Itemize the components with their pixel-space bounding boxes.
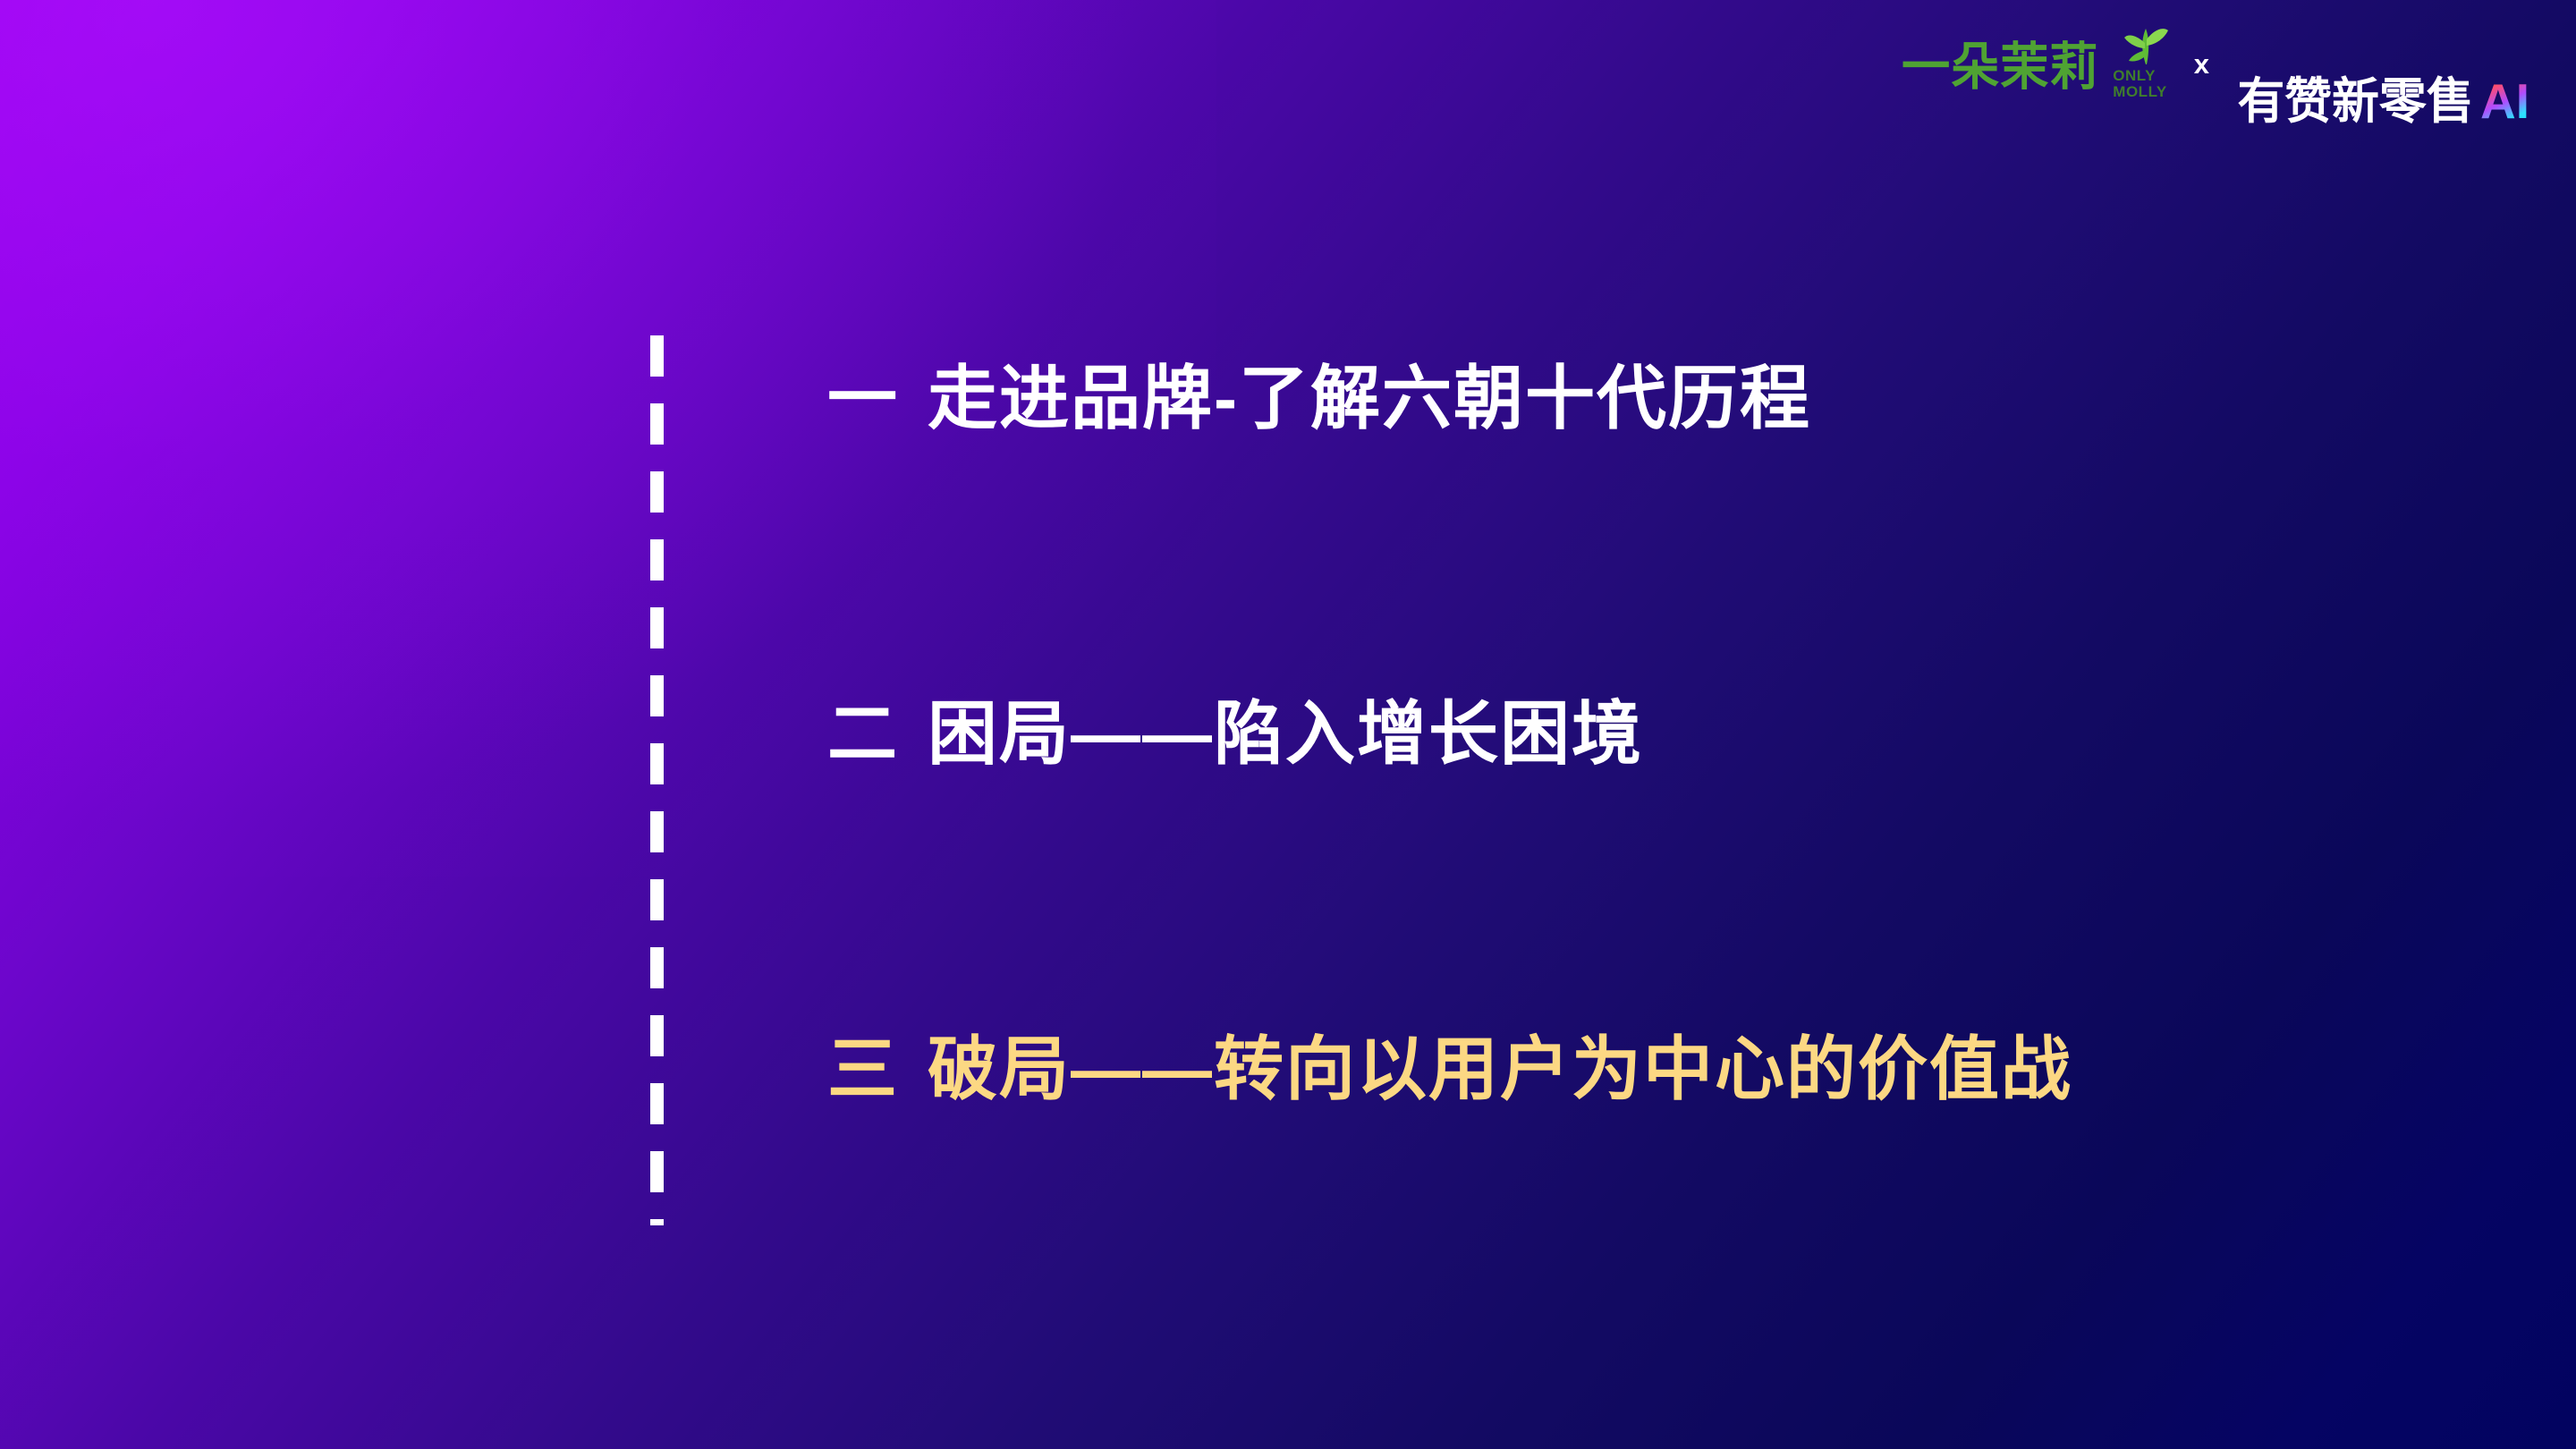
agenda-list: 一走进品牌-了解六朝十代历程 二困局——陷入增长困境 三破局——转向以用户为中心… xyxy=(827,360,2491,1108)
agenda-item-2-text: 二困局——陷入增长困境 xyxy=(827,695,1643,773)
agenda-item-1-title: 走进品牌-了解六朝十代历程 xyxy=(928,359,1811,437)
brand-logo-only-molly-en: ONLY MOLLY xyxy=(2113,68,2166,107)
agenda-item-2[interactable]: 二困局——陷入增长困境 xyxy=(827,695,2491,1030)
brand-logo-youzan-ai: AI xyxy=(2480,77,2529,126)
agenda-divider-dashed-line xyxy=(650,335,664,1225)
brand-logo-en-line1: ONLY xyxy=(2113,68,2166,84)
brand-separator-x: x xyxy=(2194,50,2209,78)
brand-logo-en-line2: MOLLY xyxy=(2113,84,2166,100)
agenda-item-1-text: 一走进品牌-了解六朝十代历程 xyxy=(827,360,1811,437)
brand-bar: 一朵茉莉 ONLY MOLLY x 有赞新零售 AI xyxy=(1902,21,2529,107)
brand-logo-only-molly: 一朵茉莉 ONLY MOLLY xyxy=(1902,21,2166,107)
agenda-item-1[interactable]: 一走进品牌-了解六朝十代历程 xyxy=(827,360,2491,695)
agenda-item-3-title: 破局——转向以用户为中心的价值战 xyxy=(928,1030,2072,1108)
leaf-butterfly-icon xyxy=(2123,25,2169,66)
agenda-item-2-number: 二 xyxy=(827,694,897,773)
brand-logo-youzan: 有赞新零售 AI xyxy=(2233,21,2529,107)
slide-canvas: 一朵茉莉 ONLY MOLLY x 有赞新零售 AI 一走进品牌-了解六朝十代历… xyxy=(0,0,2576,1449)
agenda-item-3[interactable]: 三破局——转向以用户为中心的价值战 xyxy=(827,1030,2491,1108)
agenda-item-3-number: 三 xyxy=(827,1030,897,1108)
brand-logo-youzan-cn: 有赞新零售 xyxy=(2237,77,2473,126)
agenda-item-1-number: 一 xyxy=(827,359,897,437)
brand-logo-only-molly-cn: 一朵茉莉 xyxy=(1902,42,2098,107)
agenda-item-3-text: 三破局——转向以用户为中心的价值战 xyxy=(827,1030,2072,1108)
agenda-item-2-title: 困局——陷入增长困境 xyxy=(928,694,1643,773)
